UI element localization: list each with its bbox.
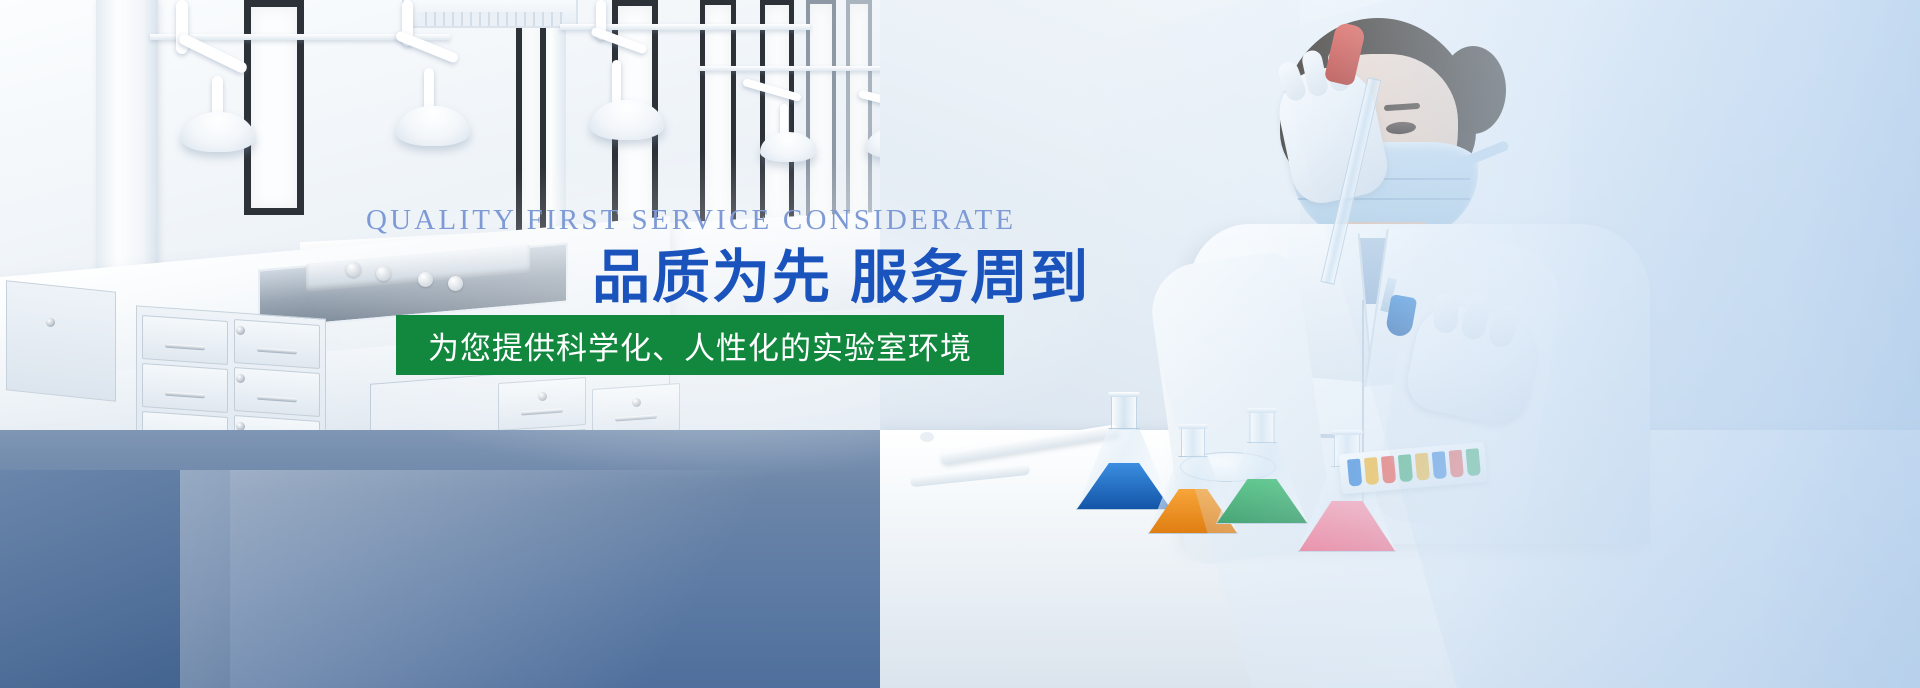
hero-banner: QUALITY FIRST SERVICE CONSIDERATE 品质为先 服… xyxy=(0,0,1920,688)
green-subtitle-bar: 为您提供科学化、人性化的实验室环境 xyxy=(396,315,1004,375)
banner-copy: QUALITY FIRST SERVICE CONSIDERATE 品质为先 服… xyxy=(0,0,1920,688)
chinese-subtitle: 为您提供科学化、人性化的实验室环境 xyxy=(428,323,972,368)
english-tagline: QUALITY FIRST SERVICE CONSIDERATE xyxy=(366,205,1026,235)
chinese-headline: 品质为先 服务周到 xyxy=(592,247,1090,309)
